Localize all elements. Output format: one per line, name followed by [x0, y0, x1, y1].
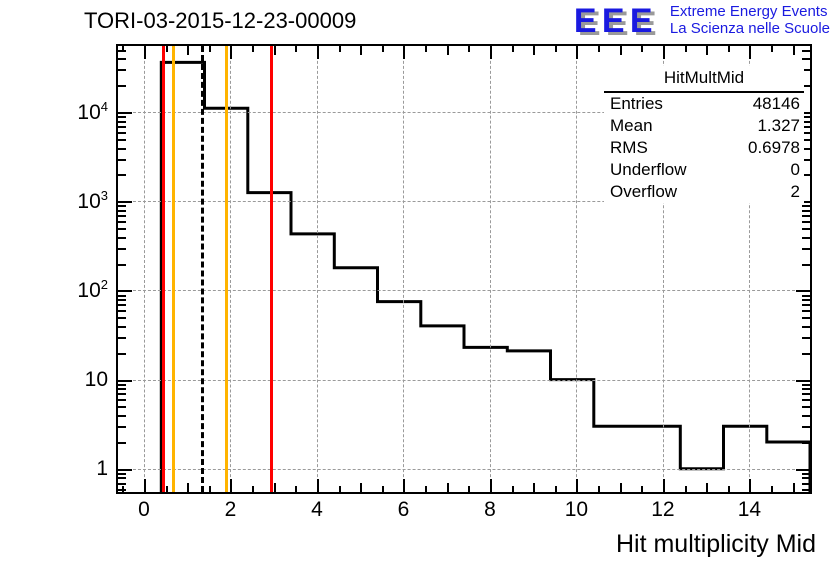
x-axis-tick-top	[382, 46, 384, 52]
y-axis-minor-tick	[802, 477, 810, 479]
x-axis-tick-top	[317, 46, 319, 59]
x-axis-tick-top	[576, 46, 578, 59]
stats-row-value: 1.327	[757, 116, 800, 136]
y-axis-tick	[118, 248, 126, 250]
x-axis-tick-top	[403, 46, 405, 59]
y-axis-minor-tick	[118, 473, 126, 475]
x-tick-label: 6	[398, 498, 410, 522]
y-tick-label: 102	[10, 277, 108, 303]
y-axis-tick	[118, 415, 126, 417]
x-axis-tick-top	[512, 46, 514, 52]
y-tick-label: 1	[10, 457, 108, 481]
y-tick-label: 103	[10, 188, 108, 214]
x-axis-tick-top	[641, 46, 643, 52]
x-axis-tick	[533, 483, 535, 492]
x-axis-tick	[252, 486, 254, 492]
logo-letter-1: E	[574, 6, 597, 36]
x-tick-label: 4	[311, 498, 323, 522]
x-tick-label: 8	[484, 498, 496, 522]
y-axis-tick-right	[802, 237, 810, 239]
x-axis-tick-top	[749, 46, 751, 59]
y-axis-tick	[118, 210, 126, 212]
y-axis-minor-tick	[118, 477, 126, 479]
grid-line-horizontal	[118, 380, 810, 381]
x-axis-tick-top	[187, 46, 189, 55]
stats-row: Underflow0	[604, 159, 804, 181]
y-axis-tick	[118, 304, 126, 306]
logo-line-2: La Scienza nelle Scuole	[670, 20, 830, 37]
x-axis-tick-top	[295, 46, 297, 52]
x-axis-tick	[382, 486, 384, 492]
x-tick-label: 0	[138, 498, 150, 522]
y-axis-minor-tick	[802, 473, 810, 475]
y-axis-tick	[118, 406, 126, 408]
x-axis-tick	[166, 486, 168, 492]
y-axis-tick-right	[802, 210, 810, 212]
x-axis-tick	[490, 479, 492, 492]
x-axis-tick-top	[425, 46, 427, 52]
x-axis-tick	[512, 486, 514, 492]
y-axis-tick	[118, 295, 126, 297]
y-axis-tick	[118, 215, 126, 217]
y-axis-tick	[118, 317, 126, 319]
y-axis-tick-right	[802, 310, 810, 312]
marker-line-mean-marker	[201, 46, 204, 492]
y-axis-tick-right	[802, 426, 810, 428]
y-axis-tick	[118, 221, 126, 223]
stats-row: Mean1.327	[604, 115, 804, 137]
x-axis-tick	[274, 483, 276, 492]
marker-line-orange-low-cut	[172, 46, 175, 492]
stats-box: HitMultMid Entries48146Mean1.327RMS0.697…	[604, 66, 804, 203]
stats-row-value: 0.6978	[748, 138, 800, 158]
y-axis-tick	[118, 426, 126, 428]
x-axis-tick	[187, 483, 189, 492]
x-axis-tick-top	[706, 46, 708, 55]
x-axis-tick-top	[598, 46, 600, 52]
y-axis-tick-right	[802, 384, 810, 386]
y-axis-tick	[118, 201, 132, 203]
x-tick-label: 2	[225, 498, 237, 522]
x-axis-tick	[598, 486, 600, 492]
marker-line-orange-high-cut	[225, 46, 228, 492]
x-axis-tick	[144, 479, 146, 492]
stats-row-key: RMS	[610, 138, 648, 158]
x-tick-label: 14	[738, 498, 761, 522]
y-axis-tick	[118, 237, 126, 239]
y-axis-tick	[118, 132, 126, 134]
stats-row-value: 2	[791, 182, 800, 202]
y-axis-tick-right	[796, 469, 810, 471]
y-axis-tick	[118, 126, 126, 128]
y-axis-tick	[118, 326, 126, 328]
y-axis-tick	[118, 69, 126, 71]
x-axis-title: Hit multiplicity Mid	[616, 530, 816, 559]
y-tick-label: 104	[10, 99, 108, 125]
y-axis-tick	[118, 299, 126, 301]
logo-line-1: Extreme Energy Events	[670, 3, 830, 20]
y-axis-tick	[118, 393, 126, 395]
y-axis-tick	[118, 388, 126, 390]
marker-line-red-high-cut	[270, 46, 273, 492]
y-axis-tick	[118, 139, 126, 141]
stats-row: RMS0.6978	[604, 137, 804, 159]
page-title: TORI-03-2015-12-23-00009	[84, 8, 356, 34]
x-axis-tick-top	[771, 46, 773, 52]
x-axis-tick	[317, 479, 319, 492]
y-axis-tick-right	[802, 353, 810, 355]
y-axis-tick-right	[802, 221, 810, 223]
y-axis-tick	[118, 310, 126, 312]
y-tick-label: 10	[10, 368, 108, 392]
x-axis-tick-top	[533, 46, 535, 55]
y-axis-tick-right	[802, 388, 810, 390]
x-axis-tick-top	[166, 46, 168, 52]
x-axis-tick	[663, 479, 665, 492]
y-axis-tick-right	[802, 442, 810, 444]
x-tick-label: 10	[565, 498, 588, 522]
x-axis-tick	[685, 486, 687, 492]
grid-line-horizontal	[118, 469, 810, 470]
y-axis-tick-right	[802, 317, 810, 319]
y-axis-tick-right	[802, 264, 810, 266]
x-axis-tick	[468, 486, 470, 492]
y-axis-tick-right	[802, 399, 810, 401]
x-axis-tick	[360, 483, 362, 492]
y-axis-tick-right	[802, 304, 810, 306]
y-axis-tick-right	[802, 393, 810, 395]
grid-line-horizontal	[118, 290, 810, 291]
x-axis-tick	[425, 486, 427, 492]
x-axis-tick	[706, 483, 708, 492]
y-axis-tick	[118, 112, 132, 114]
y-axis-tick-right	[802, 415, 810, 417]
y-axis-tick-right	[802, 295, 810, 297]
x-axis-tick-top	[144, 46, 146, 59]
x-axis-tick-top	[230, 46, 232, 59]
y-axis-tick	[118, 442, 126, 444]
x-axis-tick	[576, 479, 578, 492]
x-axis-tick	[230, 479, 232, 492]
y-axis-tick	[118, 58, 126, 60]
x-axis-tick-top	[447, 46, 449, 55]
y-axis-tick	[118, 159, 126, 161]
y-axis-tick-right	[802, 205, 810, 207]
stats-row: Entries48146	[604, 93, 804, 115]
logo-letter-3: E	[630, 6, 653, 36]
y-axis-tick-right	[802, 299, 810, 301]
x-axis-tick-top	[620, 46, 622, 55]
y-axis-minor-tick	[802, 483, 810, 485]
y-axis-tick-right	[802, 337, 810, 339]
y-axis-tick	[118, 205, 126, 207]
x-axis-tick	[793, 483, 795, 492]
x-axis-tick	[749, 479, 751, 492]
x-axis-tick-top	[209, 46, 211, 52]
y-axis-tick	[118, 148, 126, 150]
x-axis-tick-top	[555, 46, 557, 52]
x-axis-tick	[771, 486, 773, 492]
y-axis-tick	[118, 290, 132, 292]
y-axis-minor-tick	[118, 489, 126, 491]
x-axis-tick-top	[339, 46, 341, 52]
stats-row-key: Mean	[610, 116, 653, 136]
y-axis-minor-tick	[802, 489, 810, 491]
x-axis-tick	[295, 486, 297, 492]
y-axis-tick-right	[802, 50, 810, 52]
stats-row-key: Overflow	[610, 182, 677, 202]
y-axis-tick-right	[802, 248, 810, 250]
y-axis-tick	[118, 469, 132, 471]
x-axis-tick-top	[468, 46, 470, 52]
y-axis-tick-right	[802, 215, 810, 217]
x-axis-tick	[339, 486, 341, 492]
x-axis-tick-top	[728, 46, 730, 52]
x-axis-tick-top	[793, 46, 795, 55]
x-axis-tick	[403, 479, 405, 492]
y-axis-tick-right	[802, 326, 810, 328]
y-axis-tick	[118, 384, 126, 386]
x-axis-tick	[447, 483, 449, 492]
y-axis-tick	[118, 121, 126, 123]
x-axis-tick	[555, 486, 557, 492]
y-axis-tick	[118, 228, 126, 230]
stats-row-key: Entries	[610, 94, 663, 114]
y-axis-tick	[118, 50, 126, 52]
y-axis-tick	[118, 264, 126, 266]
y-axis-tick	[118, 380, 132, 382]
x-axis-tick-top	[685, 46, 687, 52]
stats-row-value: 0	[791, 160, 800, 180]
x-axis-tick-top	[360, 46, 362, 55]
marker-line-red-low-cut	[162, 46, 165, 492]
x-tick-label: 12	[651, 498, 674, 522]
y-axis-tick-right	[802, 228, 810, 230]
eee-logo: E E E E E E Extreme Energy Events La Sci…	[572, 3, 830, 41]
x-axis-tick-top	[274, 46, 276, 55]
x-axis-tick	[728, 486, 730, 492]
y-axis-tick	[118, 85, 126, 87]
y-axis-tick	[118, 399, 126, 401]
x-axis-tick	[641, 486, 643, 492]
stats-row-key: Underflow	[610, 160, 687, 180]
y-axis-tick-right	[796, 380, 810, 382]
x-axis-tick-top	[490, 46, 492, 59]
eee-logo-mark: E E E E E E	[572, 5, 664, 41]
stats-box-title: HitMultMid	[604, 66, 804, 93]
histogram-canvas: TORI-03-2015-12-23-00009 E E E E E E Ext…	[0, 0, 836, 572]
y-axis-tick	[118, 174, 126, 176]
stats-row: Overflow2	[604, 181, 804, 203]
eee-logo-text: Extreme Energy Events La Scienza nelle S…	[670, 3, 830, 37]
y-axis-tick	[118, 337, 126, 339]
y-axis-tick	[118, 116, 126, 118]
logo-letter-2: E	[602, 6, 625, 36]
x-axis-tick-top	[663, 46, 665, 59]
y-axis-tick-right	[802, 406, 810, 408]
x-axis-tick	[209, 486, 211, 492]
stats-row-value: 48146	[753, 94, 800, 114]
y-axis-minor-tick	[118, 483, 126, 485]
y-axis-tick	[118, 353, 126, 355]
x-axis-tick-top	[252, 46, 254, 52]
y-axis-tick-right	[796, 290, 810, 292]
x-axis-tick	[620, 483, 622, 492]
y-axis-tick-right	[802, 58, 810, 60]
